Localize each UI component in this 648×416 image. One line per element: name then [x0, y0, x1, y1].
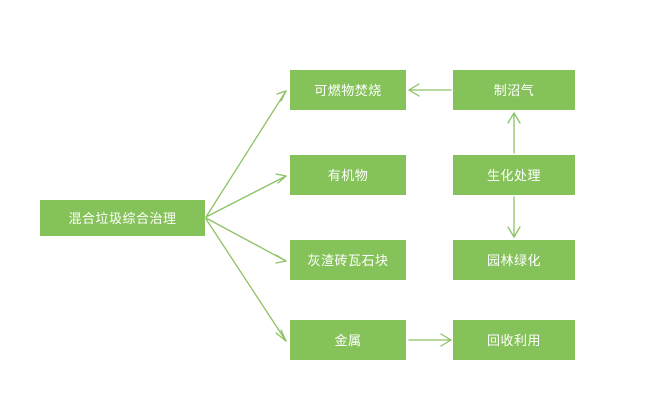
edge-metal-to-recycle — [409, 334, 451, 346]
node-recycling-reuse[interactable]: 回收利用 — [453, 320, 575, 360]
node-label: 回收利用 — [487, 334, 541, 347]
node-label: 金属 — [334, 334, 361, 347]
edge-root-to-burn — [206, 91, 286, 217]
edge-root-to-organic — [206, 174, 286, 217]
edge-biochem-to-biogas — [508, 113, 520, 153]
edge-root-to-ash — [206, 218, 286, 263]
diagram-canvas: 混合垃圾综合治理 可燃物焚烧 有机物 灰渣砖瓦石块 金属 制沼气 生化处理 园林… — [0, 0, 648, 416]
node-landscaping[interactable]: 园林绿化 — [453, 240, 575, 280]
node-label: 制沼气 — [494, 84, 535, 97]
node-biochemical-treatment[interactable]: 生化处理 — [453, 155, 575, 195]
edge-root-to-metal — [206, 219, 286, 341]
node-label: 混合垃圾综合治理 — [68, 212, 176, 225]
node-label: 可燃物焚烧 — [314, 84, 382, 97]
node-label: 有机物 — [328, 169, 369, 182]
node-label: 园林绿化 — [487, 254, 541, 267]
node-metal[interactable]: 金属 — [290, 320, 406, 360]
node-ash-bricks-tiles-stones[interactable]: 灰渣砖瓦石块 — [290, 240, 406, 280]
edge-biochem-to-garden — [508, 197, 520, 237]
node-label: 灰渣砖瓦石块 — [307, 254, 388, 267]
node-combustible-incineration[interactable]: 可燃物焚烧 — [290, 70, 406, 110]
node-mixed-waste-management[interactable]: 混合垃圾综合治理 — [40, 200, 205, 236]
edge-biogas-to-burn — [409, 84, 451, 96]
node-label: 生化处理 — [487, 169, 541, 182]
node-organic-matter[interactable]: 有机物 — [290, 155, 406, 195]
node-biogas-production[interactable]: 制沼气 — [453, 70, 575, 110]
